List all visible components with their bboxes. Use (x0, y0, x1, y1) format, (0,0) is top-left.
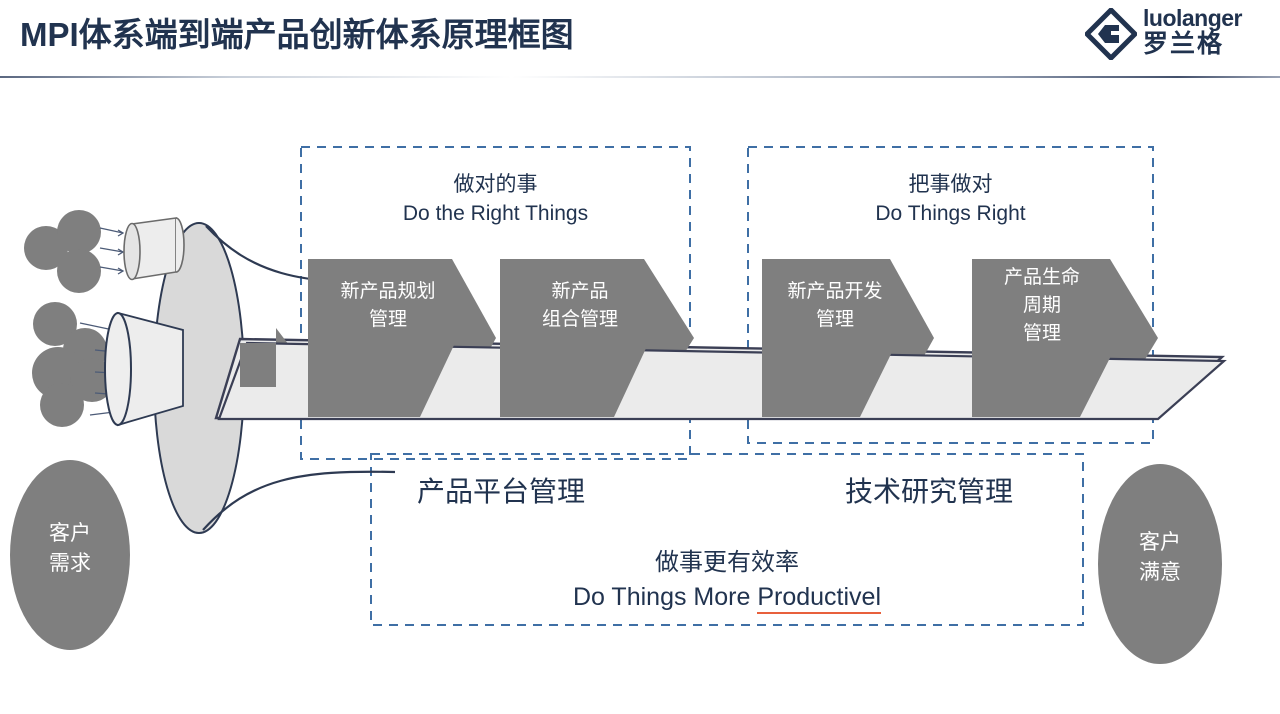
page-title: MPI体系端到端产品创新体系原理框图 (20, 8, 574, 56)
process-diagram: 做对的事 Do the Right Things 把事做对 Do Things … (0, 78, 1280, 709)
group-heading-cn: 做对的事 (301, 170, 690, 199)
foundation-slogan-en: Do Things More Productivel (371, 580, 1083, 614)
group-heading-en: Do Things Right (748, 199, 1153, 228)
group-heading-cn: 把事做对 (748, 170, 1153, 199)
stage-label-npp: 新产品规划 管理 (308, 278, 468, 334)
foundation-slogan-en-misspelled: Productivel (757, 583, 881, 614)
diamond-g-logo-icon (1085, 8, 1137, 60)
stage-label-nppm: 新产品 组合管理 (500, 278, 660, 334)
stage-label-plm: 产品生命 周期 管理 (972, 264, 1112, 348)
band-label-technology-research: 技术研究管理 (845, 470, 1013, 510)
foundation-slogan-en-prefix: Do Things More (573, 583, 757, 611)
logo-wordmark: luolanger 罗兰格 (1143, 6, 1268, 58)
foundation-slogan-cn: 做事更有效率 (371, 546, 1083, 580)
input-dots-cluster-top (24, 210, 101, 293)
company-logo: luolanger 罗兰格 (1085, 4, 1265, 64)
slide-canvas: MPI体系端到端产品创新体系原理框图 luolanger 罗兰格 (0, 0, 1280, 709)
slide-header: MPI体系端到端产品创新体系原理框图 luolanger 罗兰格 (0, 0, 1280, 78)
group-heading-do-things-right: 把事做对 Do Things Right (748, 170, 1153, 228)
logo-chinese-text: 罗兰格 (1143, 31, 1268, 58)
group-heading-en: Do the Right Things (301, 199, 690, 228)
customer-satisfaction-label: 客户 满意 (1100, 528, 1220, 588)
input-funnel-cone (105, 313, 183, 425)
stage-label-npd: 新产品开发 管理 (760, 278, 910, 334)
band-label-product-platform: 产品平台管理 (417, 470, 585, 510)
group-heading-do-right-things: 做对的事 Do the Right Things (301, 170, 690, 228)
input-cylinder (124, 218, 184, 280)
foundation-slogan: 做事更有效率 Do Things More Productivel (371, 546, 1083, 614)
logo-latin-text: luolanger (1143, 6, 1268, 31)
input-dots-cluster-bottom (32, 302, 114, 427)
customer-needs-label: 客户 需求 (10, 519, 130, 579)
